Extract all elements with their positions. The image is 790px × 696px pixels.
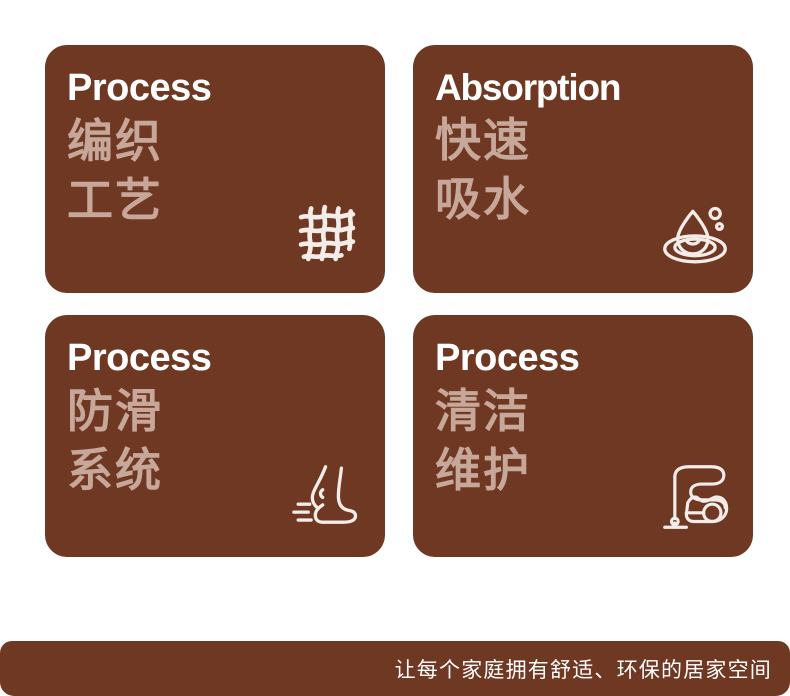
- card-subtitle-line-1: 清洁: [435, 382, 731, 441]
- card-subtitle: 快速 吸水: [435, 111, 731, 229]
- feature-card-absorption[interactable]: Absorption 快速 吸水: [413, 45, 753, 293]
- feature-card-weaving[interactable]: Process 编织 工艺: [45, 45, 385, 293]
- card-title: Absorption: [435, 69, 731, 107]
- feature-card-grid: Process 编织 工艺: [45, 45, 745, 557]
- feature-card-cleaning[interactable]: Process 清洁 维护: [413, 315, 753, 557]
- card-subtitle-line-1: 防滑: [67, 382, 363, 441]
- card-subtitle-line-1: 编织: [67, 112, 363, 171]
- card-subtitle-line-2: 工艺: [67, 171, 363, 230]
- card-title: Process: [67, 339, 363, 378]
- card-subtitle: 清洁 维护: [435, 382, 731, 500]
- card-subtitle-line-1: 快速: [435, 111, 731, 170]
- card-title: Process: [435, 339, 731, 378]
- feature-card-antislip[interactable]: Process 防滑 系统: [45, 315, 385, 557]
- feature-cards-page: Process 编织 工艺: [0, 0, 790, 696]
- card-subtitle: 防滑 系统: [67, 382, 363, 500]
- card-subtitle-line-2: 吸水: [435, 170, 731, 229]
- card-subtitle: 编织 工艺: [67, 112, 363, 230]
- footer-bar: 让每个家庭拥有舒适、环保的居家空间: [0, 641, 790, 696]
- card-title: Process: [67, 69, 363, 108]
- card-subtitle-line-2: 系统: [67, 441, 363, 500]
- footer-tagline: 让每个家庭拥有舒适、环保的居家空间: [395, 654, 772, 684]
- card-subtitle-line-2: 维护: [435, 441, 731, 500]
